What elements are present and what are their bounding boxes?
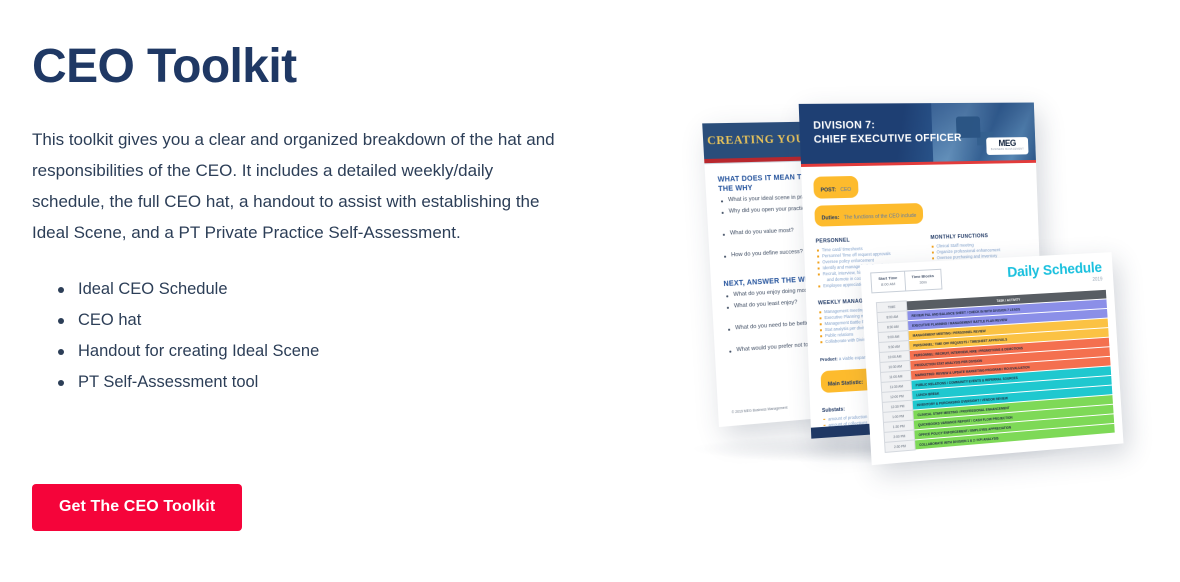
duties-pill-value: The functions of the CEO include [844, 213, 917, 221]
duties-pill: Duties: The functions of the CEO include [814, 203, 923, 227]
schedule-meta-value: 8:00 AM [879, 281, 898, 288]
meg-logo-subtitle: BUSINESS MANAGEMENT [991, 148, 1024, 152]
section-heading-monthly-functions: MONTHLY FUNCTIONS [930, 232, 1028, 241]
schedule-meta-value: 30m [912, 279, 935, 286]
list-item: Handout for creating Ideal Scene [32, 336, 592, 367]
main-doc-header-title: DIVISION 7: CHIEF EXECUTIVE OFFICER [813, 118, 962, 146]
post-pill-value: CEO [840, 186, 851, 192]
page-title: CEO Toolkit [32, 42, 592, 92]
meg-logo: MEG BUSINESS MANAGEMENT [986, 137, 1029, 155]
list-item: CEO hat [32, 305, 592, 336]
product-key: Product: [820, 356, 838, 362]
schedule-meta-cell: Start Time 8:00 AM [871, 272, 905, 293]
get-ceo-toolkit-button[interactable]: Get The CEO Toolkit [32, 484, 242, 531]
schedule-title-block: Daily Schedule 2019 [1007, 260, 1105, 288]
main-statistic-key: Main Statistic: [828, 379, 864, 387]
feature-list: Ideal CEO Schedule CEO hat Handout for c… [32, 274, 592, 398]
hero-content-column: CEO Toolkit This toolkit gives you a cle… [32, 42, 592, 398]
list-item: PT Self-Assessment tool [32, 367, 592, 398]
landing-page-hero: CEO Toolkit This toolkit gives you a cle… [0, 0, 1180, 582]
document-daily-schedule: Start Time 8:00 AM Time Blocks 30m Daily… [860, 252, 1124, 465]
back-doc-footer: © 2019 MEG Business Management [732, 406, 788, 416]
post-pill-key: POST: [820, 187, 836, 193]
post-title-label: CHIEF EXECUTIVE OFFICER [814, 132, 962, 147]
hero-description: This toolkit gives you a clear and organ… [32, 124, 562, 248]
section-heading-personnel: PERSONNEL [816, 235, 918, 244]
toolkit-preview-image: CREATING YOUR IDEAL SCENE WHAT DOES IT M… [660, 70, 1130, 490]
list-item: Ideal CEO Schedule [32, 274, 592, 305]
schedule-table: TIME TASK / ACTIVITY 8:00 AMREVIEW P&L A… [876, 289, 1116, 453]
post-pill: POST: CEO [813, 176, 858, 198]
main-doc-header: DIVISION 7: CHIEF EXECUTIVE OFFICER MEG … [799, 103, 1036, 164]
duties-pill-key: Duties: [822, 215, 840, 221]
schedule-meta-table: Start Time 8:00 AM Time Blocks 30m [870, 269, 942, 294]
schedule-meta-cell: Time Blocks 30m [905, 270, 942, 291]
schedule-row-time: 2:30 PM [885, 440, 916, 452]
